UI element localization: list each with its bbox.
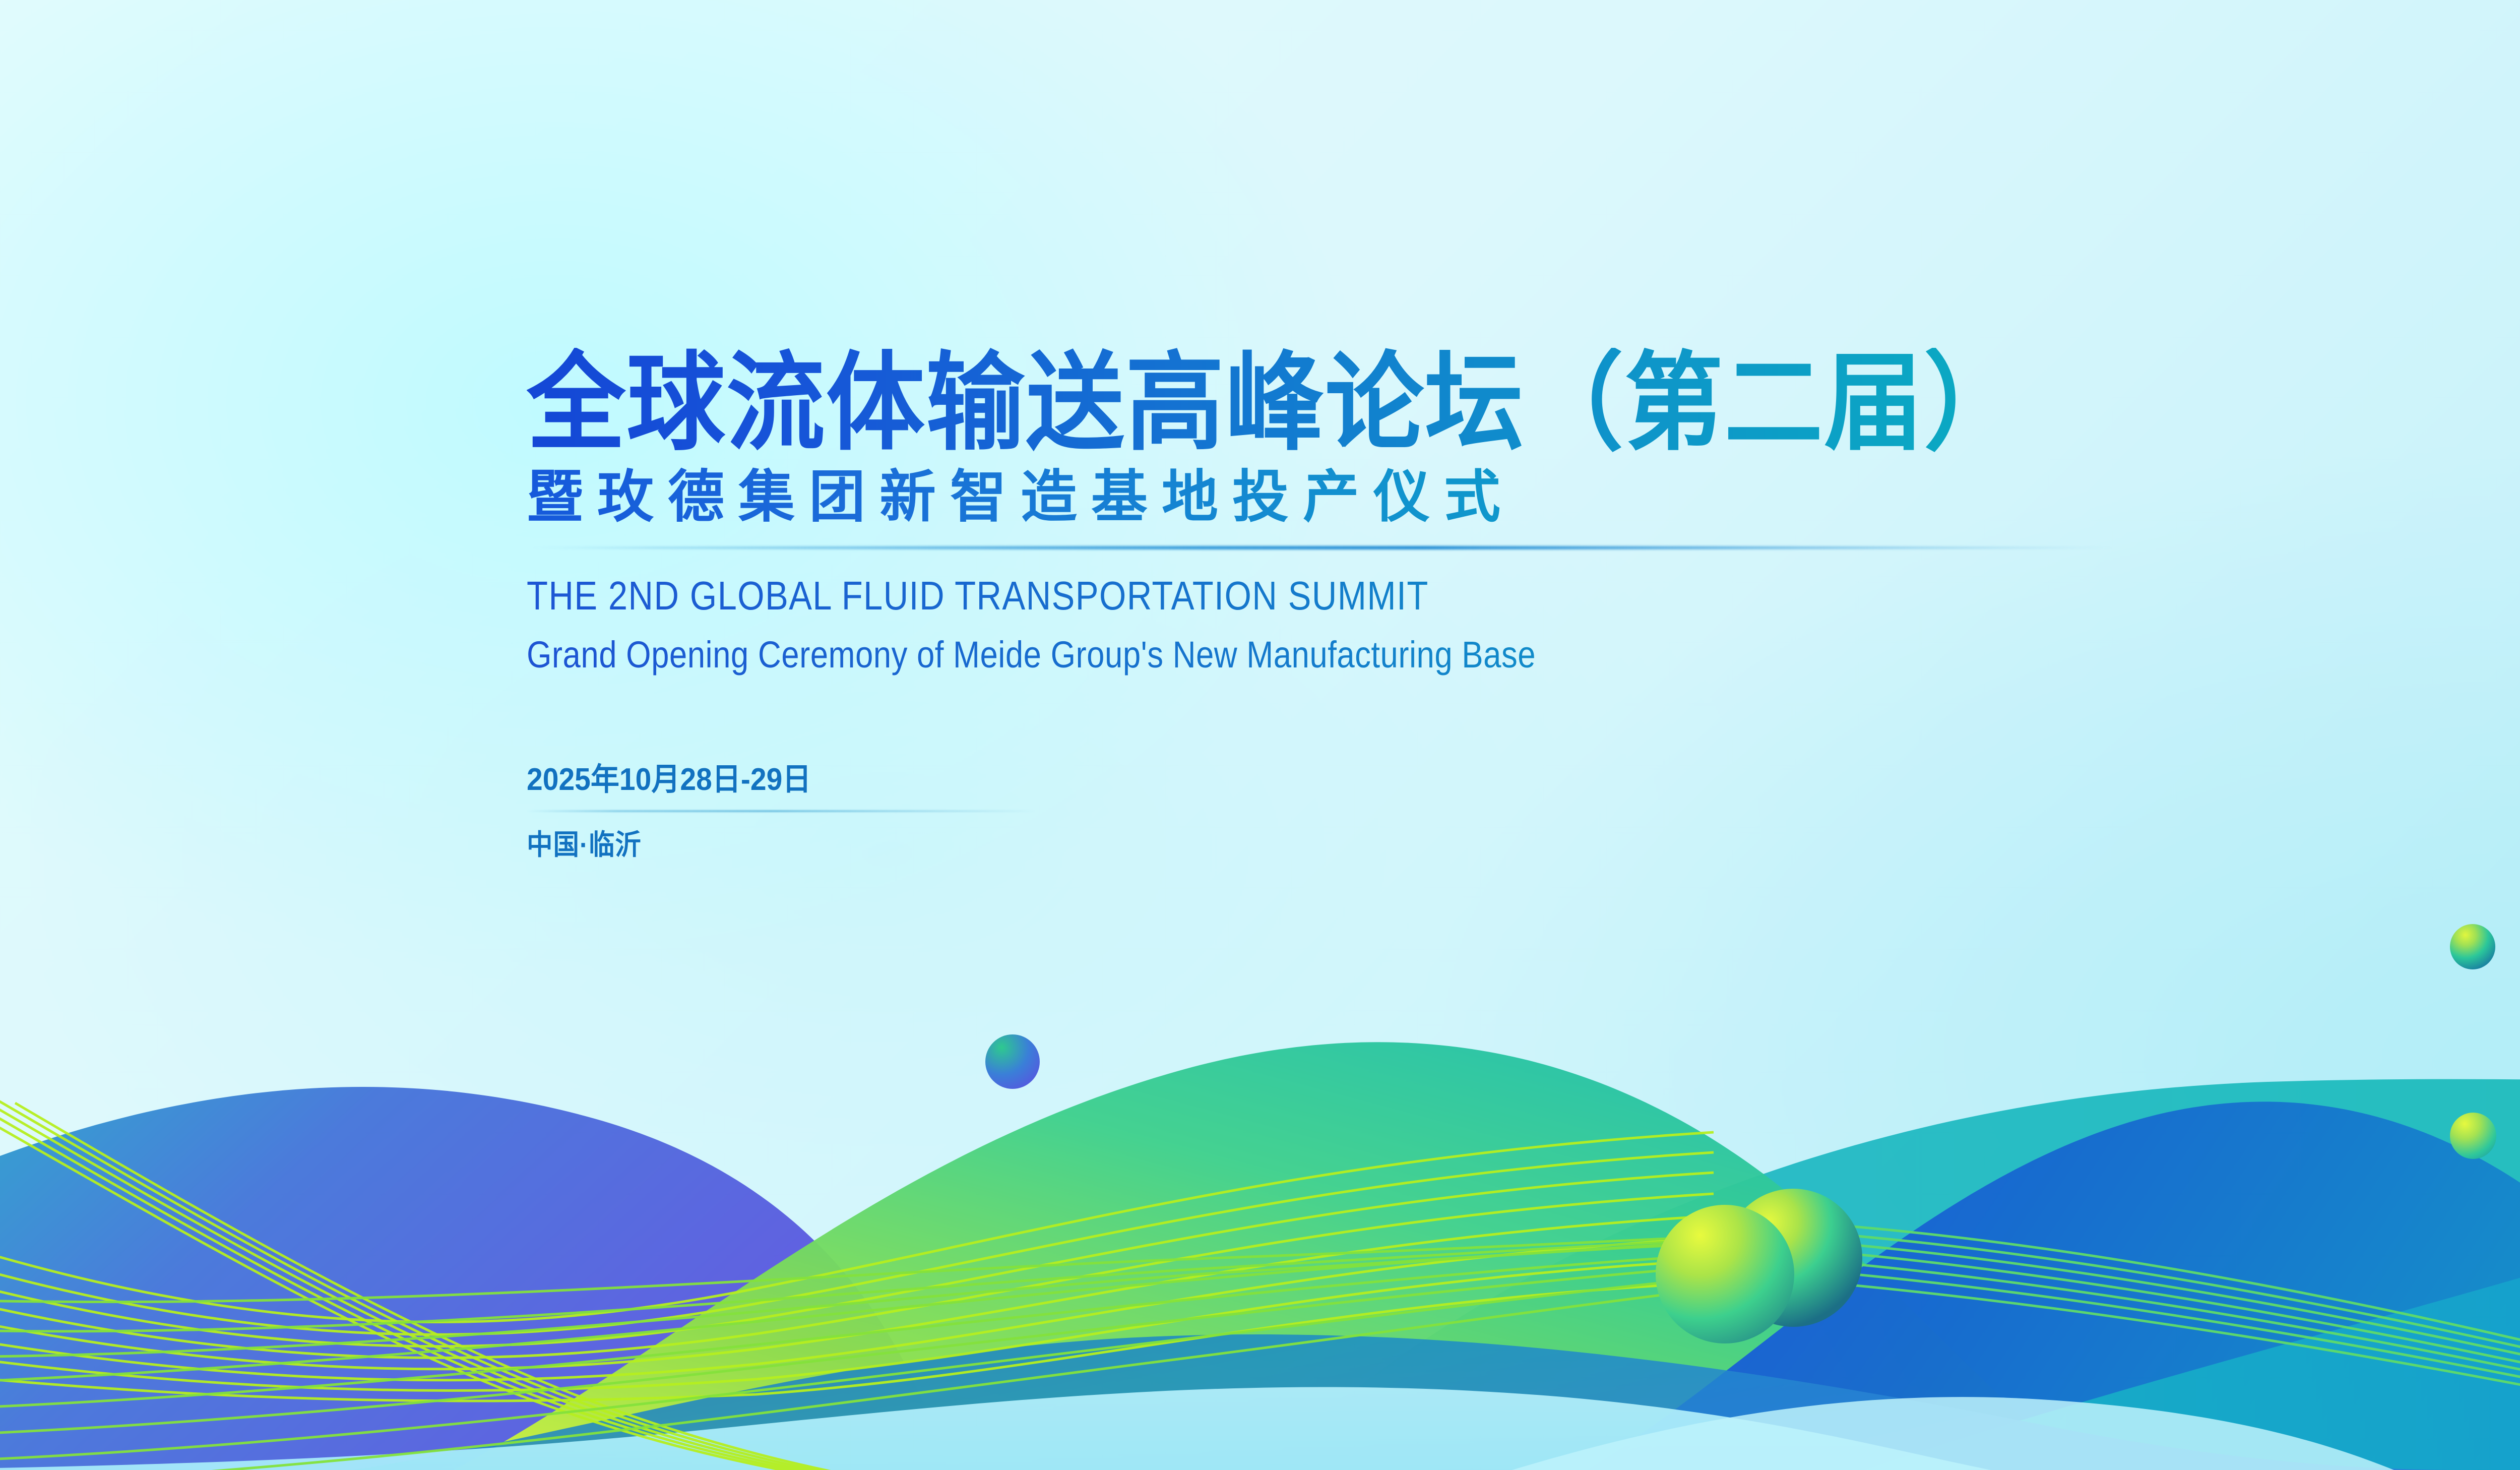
- meta-divider: [527, 810, 1036, 812]
- sphere-small-green-fg: [2450, 1113, 2496, 1159]
- event-date: 2025年10月28日-29日: [527, 754, 1018, 799]
- headline-block: 全球流体输送高峰论坛（第二届） 暨玫德集团新智造基地投产仪式 THE 2ND G…: [527, 348, 2520, 863]
- sphere-large-green-fg: [1656, 1205, 1794, 1343]
- event-meta: 2025年10月28日-29日 中国·临沂: [527, 754, 1061, 863]
- page-subtitle-cn: 暨玫德集团新智造基地投产仪式: [527, 466, 2520, 528]
- sphere-small-blue: [985, 1034, 1040, 1089]
- page-title-en: THE 2ND GLOBAL FLUID TRANSPORTATION SUMM…: [527, 573, 2434, 619]
- headline-divider: [527, 546, 2119, 549]
- event-location: 中国·临沂: [527, 822, 1018, 863]
- page-title: 全球流体输送高峰论坛（第二届）: [527, 348, 2520, 459]
- poster-canvas: 全球流体输送高峰论坛（第二届） 暨玫德集团新智造基地投产仪式 THE 2ND G…: [0, 0, 2520, 1470]
- page-subtitle-en: Grand Opening Ceremony of Meide Group's …: [527, 633, 2434, 676]
